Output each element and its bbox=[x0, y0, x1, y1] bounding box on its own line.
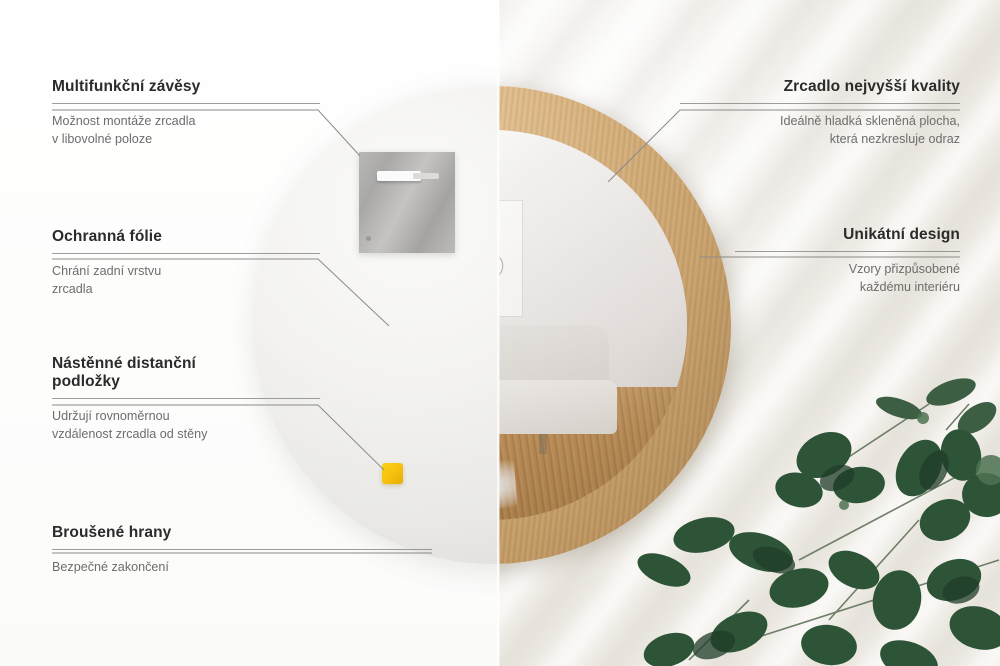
callout-description: Chrání zadní vrstvu zrcadla bbox=[52, 262, 320, 299]
desc-line-2: zrcadla bbox=[52, 282, 93, 296]
hanger-plate bbox=[359, 152, 455, 253]
callout-rule bbox=[52, 398, 320, 399]
title-line-1: Nástěnné distanční bbox=[52, 355, 196, 372]
desc-line-2: která nezkresluje odraz bbox=[830, 132, 960, 146]
infographic-canvas: Multifunkční závěsy Možnost montáže zrca… bbox=[0, 0, 1000, 666]
callout-description: Ideálně hladká skleněná plocha, která ne… bbox=[680, 112, 960, 149]
yellow-spacer-pad bbox=[382, 463, 403, 484]
desc-line-2: každému interiéru bbox=[860, 280, 960, 294]
callout-protective-film: Ochranná fólie Chrání zadní vrstvu zrcad… bbox=[52, 228, 320, 299]
callout-title: Multifunkční závěsy bbox=[52, 78, 320, 96]
title-line-2: podložky bbox=[52, 373, 120, 390]
callout-rule bbox=[52, 549, 432, 550]
desc-line-2: vzdálenost zrcadla od stěny bbox=[52, 427, 207, 441]
callout-wall-spacers: Nástěnné distanční podložky Udržují rovn… bbox=[52, 355, 320, 444]
callout-title: Ochranná fólie bbox=[52, 228, 320, 246]
desc-line-1: Udržují rovnoměrnou bbox=[52, 409, 170, 423]
callout-top-quality-mirror: Zrcadlo nejvyšší kvality Ideálně hladká … bbox=[680, 78, 960, 149]
callout-title: Nástěnné distanční podložky bbox=[52, 355, 320, 391]
callout-title: Zrcadlo nejvyšší kvality bbox=[680, 78, 960, 96]
callout-description: Bezpečné zakončení bbox=[52, 558, 432, 576]
callout-rule bbox=[735, 251, 960, 252]
callout-rule bbox=[680, 103, 960, 104]
desc-line-2: v libovolné poloze bbox=[52, 132, 152, 146]
callout-unique-design: Unikátní design Vzory přizpůsobené každé… bbox=[735, 226, 960, 297]
callout-description: Vzory přizpůsobené každému interiéru bbox=[735, 260, 960, 297]
callout-title: Unikátní design bbox=[735, 226, 960, 244]
desc-line-1: Vzory přizpůsobené bbox=[849, 262, 960, 276]
callout-title: Broušené hrany bbox=[52, 524, 432, 542]
desc-line-1: Chrání zadní vrstvu bbox=[52, 264, 161, 278]
callout-description: Možnost montáže zrcadla v libovolné polo… bbox=[52, 112, 320, 149]
callout-rule bbox=[52, 103, 320, 104]
callout-multifunctional-hangers: Multifunkční závěsy Možnost montáže zrca… bbox=[52, 78, 320, 149]
callout-rule bbox=[52, 253, 320, 254]
hanger-slot-shadow bbox=[413, 173, 439, 179]
hanger-screw-dot bbox=[366, 236, 371, 241]
callout-description: Udržují rovnoměrnou vzdálenost zrcadla o… bbox=[52, 407, 320, 444]
desc-line-1: Ideálně hladká skleněná plocha, bbox=[780, 114, 960, 128]
callout-ground-edges: Broušené hrany Bezpečné zakončení bbox=[52, 524, 432, 576]
desc-line-1: Možnost montáže zrcadla bbox=[52, 114, 196, 128]
panel-divider bbox=[497, 0, 500, 666]
